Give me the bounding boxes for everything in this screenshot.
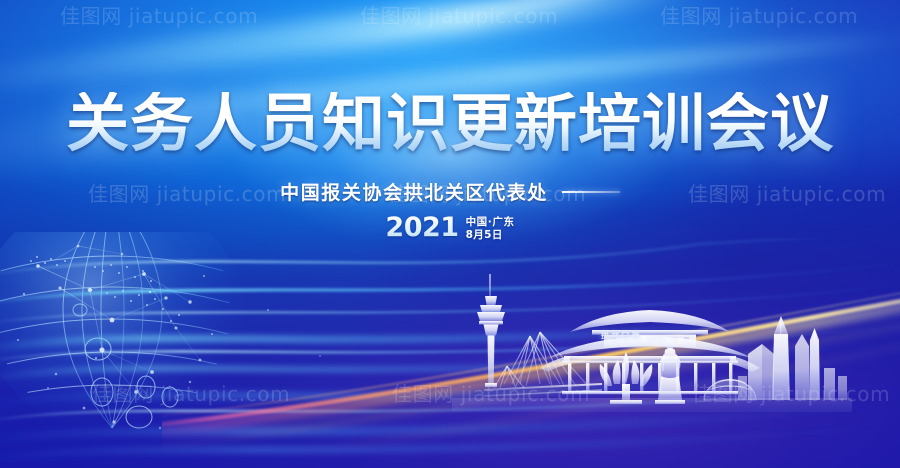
watermark-layer: 佳图网 jiatupic.com佳图网 jiatupic.com佳图网 jiat…: [0, 0, 900, 468]
watermark-text: 佳图网 jiatupic.com: [60, 0, 258, 29]
conference-banner-poster: 拱北口岸 GONGBEI PORT 关务人员知识更新培训会议 中国报关协会拱北关…: [0, 0, 900, 468]
watermark-text: 佳图网 jiatupic.com: [360, 0, 558, 29]
watermark-text: 佳图网 jiatupic.com: [392, 378, 590, 407]
watermark-text: 佳图网 jiatupic.com: [692, 378, 890, 407]
watermark-text: 佳图网 jiatupic.com: [660, 0, 858, 29]
watermark-text: 佳图网 jiatupic.com: [88, 178, 286, 207]
watermark-text: 佳图网 jiatupic.com: [688, 178, 886, 207]
watermark-text: 佳图网 jiatupic.com: [92, 378, 290, 407]
watermark-text: 佳图网 jiatupic.com: [388, 178, 586, 207]
